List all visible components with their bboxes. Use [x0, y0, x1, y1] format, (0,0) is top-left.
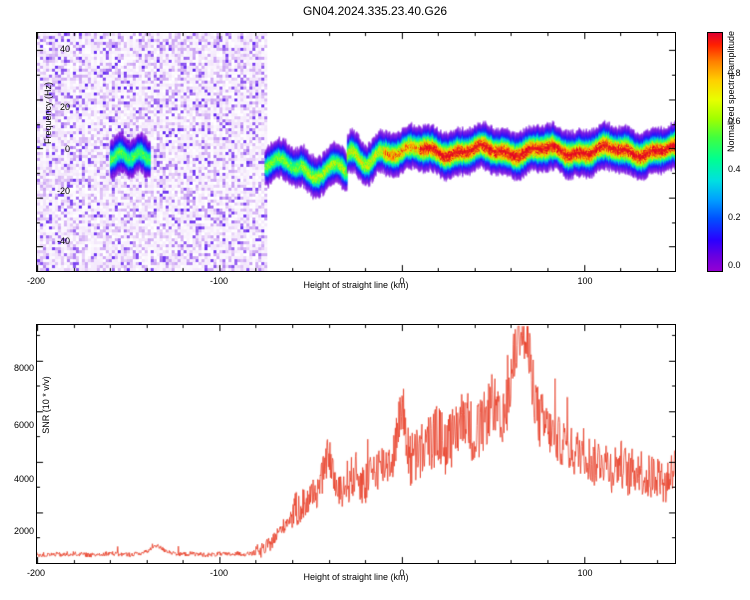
spectrogram-xtick-m100: -100 [189, 276, 249, 286]
spectrogram-ytick-m40: -40 [30, 236, 70, 246]
colorbar-tick-0.4: 0.4 [728, 164, 741, 174]
snr-ytick-4000: 4000 [0, 474, 34, 484]
spectrogram-xtick-0: 0 [372, 276, 432, 286]
page-title: GN04.2024.335.23.40.G26 [0, 4, 750, 18]
colorbar-label: Normalized spectral amplitude [726, 31, 736, 152]
spectrogram-xtick-m200: -200 [6, 276, 66, 286]
snr-ylabel: SNR (10 * v/v) [41, 345, 51, 465]
snr-panel [36, 324, 676, 564]
spectrogram-canvas [37, 33, 675, 271]
spectrogram-ylabel: Frequency (Hz) [43, 53, 53, 173]
snr-xtick-m200: -200 [6, 568, 66, 578]
colorbar [707, 32, 723, 272]
spectrogram-ytick-40: 40 [30, 44, 70, 54]
snr-ytick-6000: 6000 [0, 420, 34, 430]
snr-canvas [37, 325, 675, 563]
snr-ytick-2000: 2000 [0, 526, 34, 536]
snr-xtick-0: 0 [372, 568, 432, 578]
colorbar-tick-0.0: 0.0 [728, 260, 741, 270]
spectrogram-panel [36, 32, 676, 272]
snr-xtick-m100: -100 [189, 568, 249, 578]
snr-xtick-100: 100 [555, 568, 615, 578]
figure-root: GN04.2024.335.23.40.G26 Frequency (Hz) H… [0, 0, 750, 600]
spectrogram-ytick-m20: -20 [30, 186, 70, 196]
snr-ytick-8000: 8000 [0, 363, 34, 373]
spectrogram-xtick-100: 100 [555, 276, 615, 286]
spectrogram-ytick-0: 0 [30, 144, 70, 154]
colorbar-tick-0.2: 0.2 [728, 212, 741, 222]
spectrogram-ytick-20: 20 [30, 102, 70, 112]
